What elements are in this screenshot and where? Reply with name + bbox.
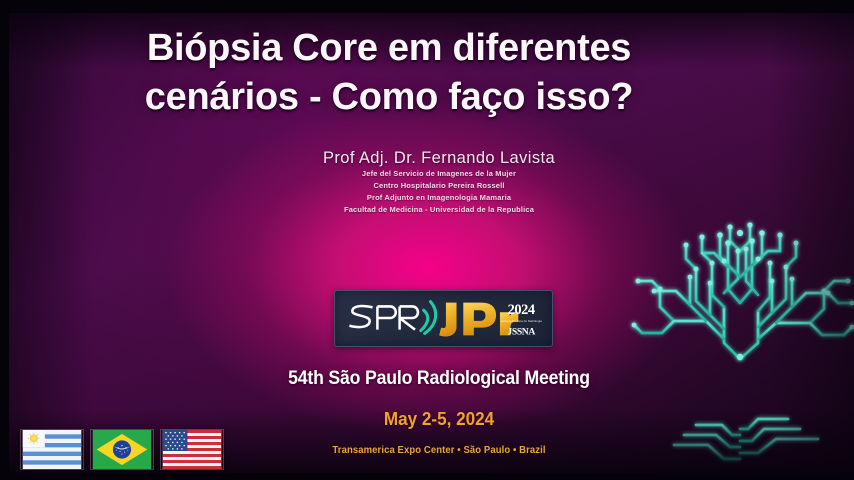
flag-brazil <box>90 429 154 470</box>
logo-year-subtitle: Jornada Paulista de Radiologia <box>501 319 543 323</box>
speaker-affiliation-4: Facultad de Medicina - Universidad de la… <box>9 204 854 216</box>
speaker-name: Prof Adj. Dr. Fernando Lavista <box>9 149 854 168</box>
logo-society-text: JSSNA <box>507 326 535 337</box>
title-line-1: Biópsia Core em diferentes <box>9 24 769 73</box>
flag-strip <box>20 429 224 470</box>
speaker-affiliation-3: Prof Adjunto en Imagenologia Mamaria <box>9 192 854 204</box>
title-line-2: cenários - Como faço isso? <box>9 73 769 122</box>
meeting-date: May 2-5, 2024 <box>31 409 848 430</box>
flag-usa <box>160 429 224 470</box>
slide-title: Biópsia Core em diferentes cenários - Co… <box>9 24 769 123</box>
speaker-affiliation-1: Jefe del Servicio de Imagenes de la Muje… <box>9 168 854 180</box>
logo-year-text: 2024 <box>508 302 535 318</box>
slide-background: Biópsia Core em diferentes cenários - Co… <box>9 13 854 473</box>
meeting-name: 54th São Paulo Radiological Meeting <box>39 368 839 390</box>
speaker-affiliation-2: Centro Hospitalario Pereira Rossell <box>9 180 854 192</box>
presentation-slide: Biópsia Core em diferentes cenários - Co… <box>0 0 854 480</box>
flag-uruguay <box>20 429 84 470</box>
speaker-info: Prof Adj. Dr. Fernando Lavista Jefe del … <box>9 149 854 217</box>
jpr-2024-logo: 2024 Jornada Paulista de Radiologia JSSN… <box>334 290 553 347</box>
